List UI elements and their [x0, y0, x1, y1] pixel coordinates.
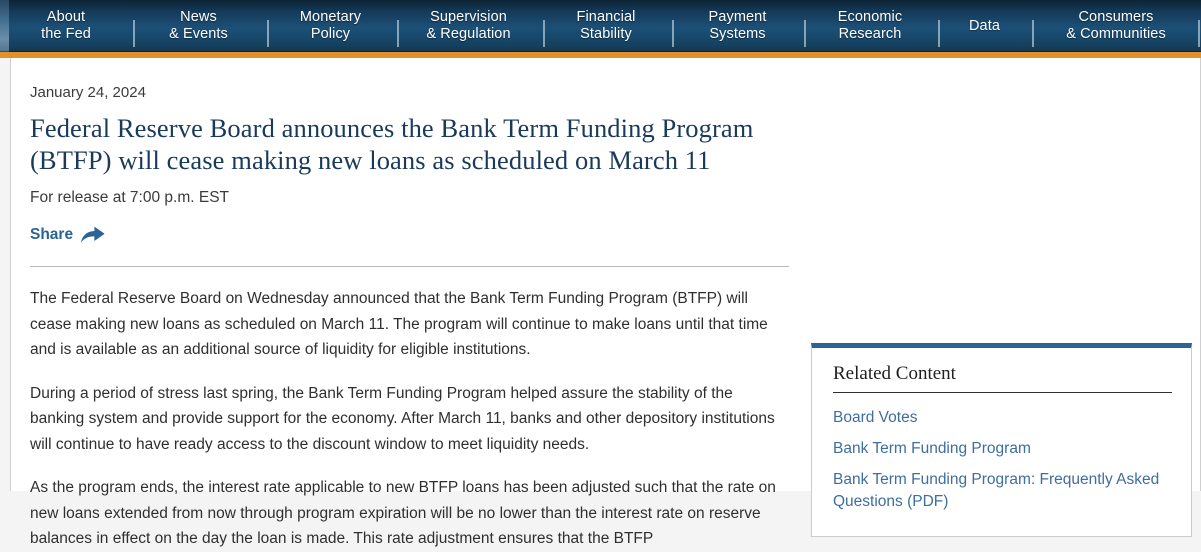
- nav-separator: [267, 20, 269, 47]
- nav-item-payment-systems[interactable]: PaymentSystems: [680, 0, 795, 52]
- nav-item-consumers-and-communities[interactable]: Consumers& Communities: [1040, 0, 1192, 52]
- release-time: For release at 7:00 p.m. EST: [30, 188, 790, 207]
- nav-item-label: News: [180, 9, 217, 26]
- related-content-rule: [833, 392, 1172, 393]
- primary-navigation: Aboutthe FedNews& EventsMonetaryPolicySu…: [0, 0, 1201, 58]
- nav-item-label: Financial: [577, 9, 636, 26]
- nav-item-label: & Communities: [1066, 26, 1166, 43]
- nav-item-about-the-fed[interactable]: Aboutthe Fed: [10, 0, 122, 52]
- nav-item-data[interactable]: Data: [947, 0, 1022, 52]
- related-link[interactable]: Board Votes: [833, 407, 1163, 429]
- nav-separator: [543, 20, 545, 47]
- body-paragraph: The Federal Reserve Board on Wednesday a…: [30, 286, 782, 363]
- nav-item-label: Consumers: [1078, 9, 1153, 26]
- nav-item-label: & Events: [169, 26, 228, 43]
- nav-item-label: Supervision: [430, 9, 507, 26]
- related-content-title: Related Content: [833, 362, 1171, 385]
- nav-separator: [133, 20, 135, 47]
- nav-item-label: Systems: [709, 26, 765, 43]
- related-content-panel: Related Content Board VotesBank Term Fun…: [811, 343, 1192, 537]
- nav-item-list: Aboutthe FedNews& EventsMonetaryPolicySu…: [0, 0, 1201, 52]
- nav-item-financial-stability[interactable]: FinancialStability: [551, 0, 661, 52]
- related-content-inner: Related Content Board VotesBank Term Fun…: [812, 348, 1191, 513]
- nav-item-news-and-events[interactable]: News& Events: [141, 0, 256, 52]
- nav-separator: [397, 20, 399, 47]
- nav-item-label: Economic: [838, 9, 902, 26]
- content-frame: January 24, 2024 Federal Reserve Board a…: [10, 58, 1201, 491]
- share-button[interactable]: Share: [30, 226, 73, 244]
- page-title: Federal Reserve Board announces the Bank…: [30, 112, 790, 176]
- nav-item-label: & Regulation: [426, 26, 510, 43]
- nav-separator: [938, 20, 940, 47]
- related-links-list: Board VotesBank Term Funding ProgramBank…: [833, 407, 1171, 513]
- body-paragraph: As the program ends, the interest rate a…: [30, 475, 782, 552]
- nav-item-label: Data: [969, 18, 1000, 35]
- nav-item-label: Stability: [580, 26, 632, 43]
- related-link[interactable]: Bank Term Funding Program: Frequently As…: [833, 469, 1163, 513]
- article-column: January 24, 2024 Federal Reserve Board a…: [30, 84, 790, 552]
- nav-item-label: Policy: [311, 26, 350, 43]
- nav-separator: [804, 20, 806, 47]
- nav-item-label: Research: [839, 26, 902, 43]
- share-arrow-icon[interactable]: [80, 225, 106, 245]
- related-link[interactable]: Bank Term Funding Program: [833, 438, 1163, 460]
- nav-item-label: About: [47, 9, 85, 26]
- nav-item-label: the Fed: [41, 26, 91, 43]
- nav-item-monetary-policy[interactable]: MonetaryPolicy: [274, 0, 387, 52]
- nav-separator: [1032, 20, 1034, 47]
- article-body: The Federal Reserve Board on Wednesday a…: [30, 286, 790, 552]
- release-date: January 24, 2024: [30, 84, 790, 102]
- body-paragraph: During a period of stress last spring, t…: [30, 381, 782, 458]
- nav-separator: [1198, 20, 1200, 47]
- page-body: January 24, 2024 Federal Reserve Board a…: [0, 58, 1201, 491]
- nav-item-supervision-and-regulation[interactable]: Supervision& Regulation: [404, 0, 533, 52]
- nav-item-label: Payment: [709, 9, 767, 26]
- nav-item-economic-research[interactable]: EconomicResearch: [812, 0, 928, 52]
- content-divider: [30, 266, 789, 267]
- share-row: Share: [30, 225, 790, 245]
- nav-item-label: Monetary: [300, 9, 361, 26]
- nav-separator: [672, 20, 674, 47]
